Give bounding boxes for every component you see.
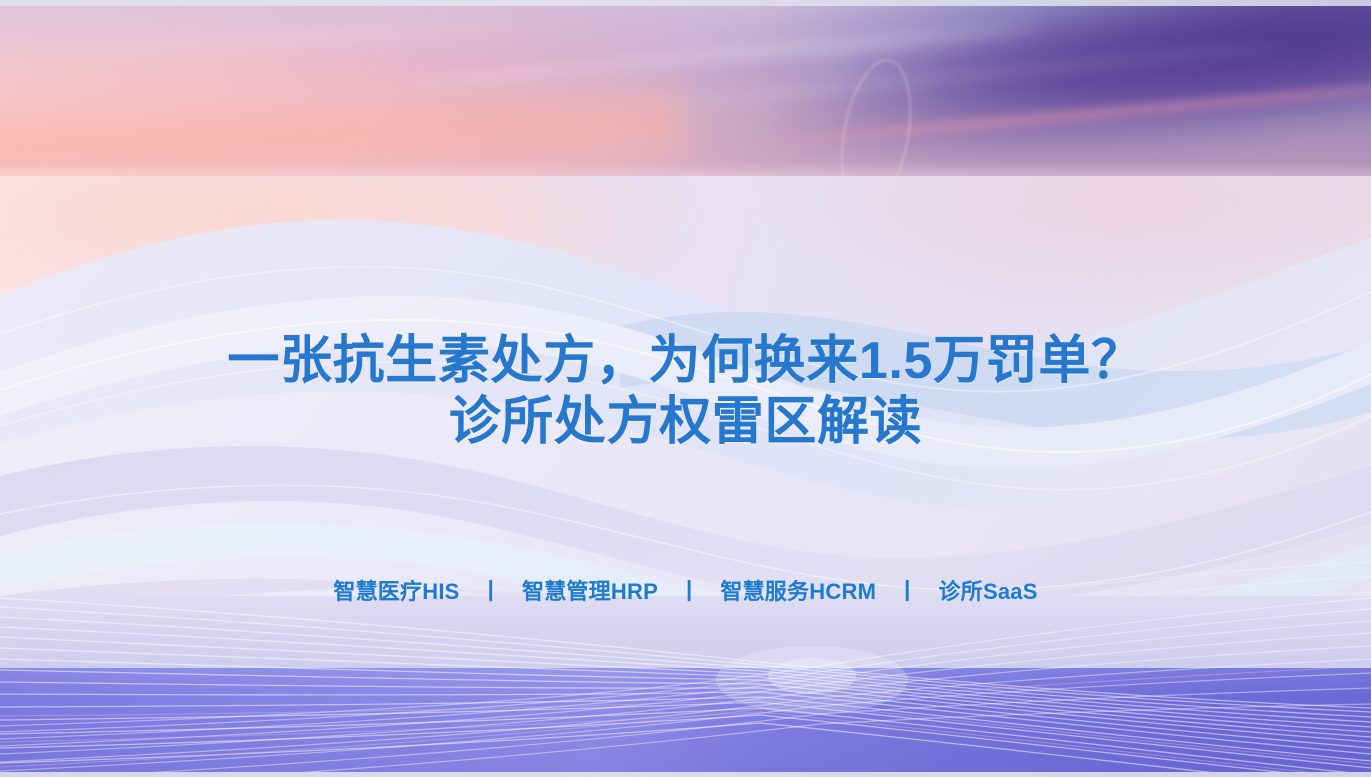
poster-canvas: 一张抗生素处方，为何换来1.5万罚单？ 诊所处方权雷区解读 智慧医疗HIS | … [0, 0, 1371, 777]
tagline-item-his: 智慧医疗HIS [331, 574, 461, 606]
tagline-item-hrp: 智慧管理HRP [520, 574, 660, 606]
ripple-wave-band [0, 596, 1371, 777]
tagline-item-saas: 诊所SaaS [937, 574, 1040, 606]
title-line-2: 诊所处方权雷区解读 [0, 392, 1371, 453]
sky-bottom-fade [0, 162, 1371, 176]
tagline-separator-1: | [462, 576, 520, 602]
tagline-item-hcrm: 智慧服务HCRM [718, 574, 878, 606]
sky-band-background [0, 0, 1371, 176]
title-line-1: 一张抗生素处方，为何换来1.5万罚单？ [0, 331, 1371, 392]
ripple-bottom-edge [0, 772, 1371, 777]
page-title: 一张抗生素处方，为何换来1.5万罚单？ 诊所处方权雷区解读 [0, 331, 1371, 454]
tagline-bar: 智慧医疗HIS | 智慧管理HRP | 智慧服务HCRM | 诊所SaaS [0, 574, 1371, 606]
sky-top-haze-strip [0, 0, 1371, 6]
tagline-separator-3: | [878, 576, 936, 602]
ripple-line-pattern [0, 596, 1371, 777]
tagline-separator-2: | [660, 576, 718, 602]
